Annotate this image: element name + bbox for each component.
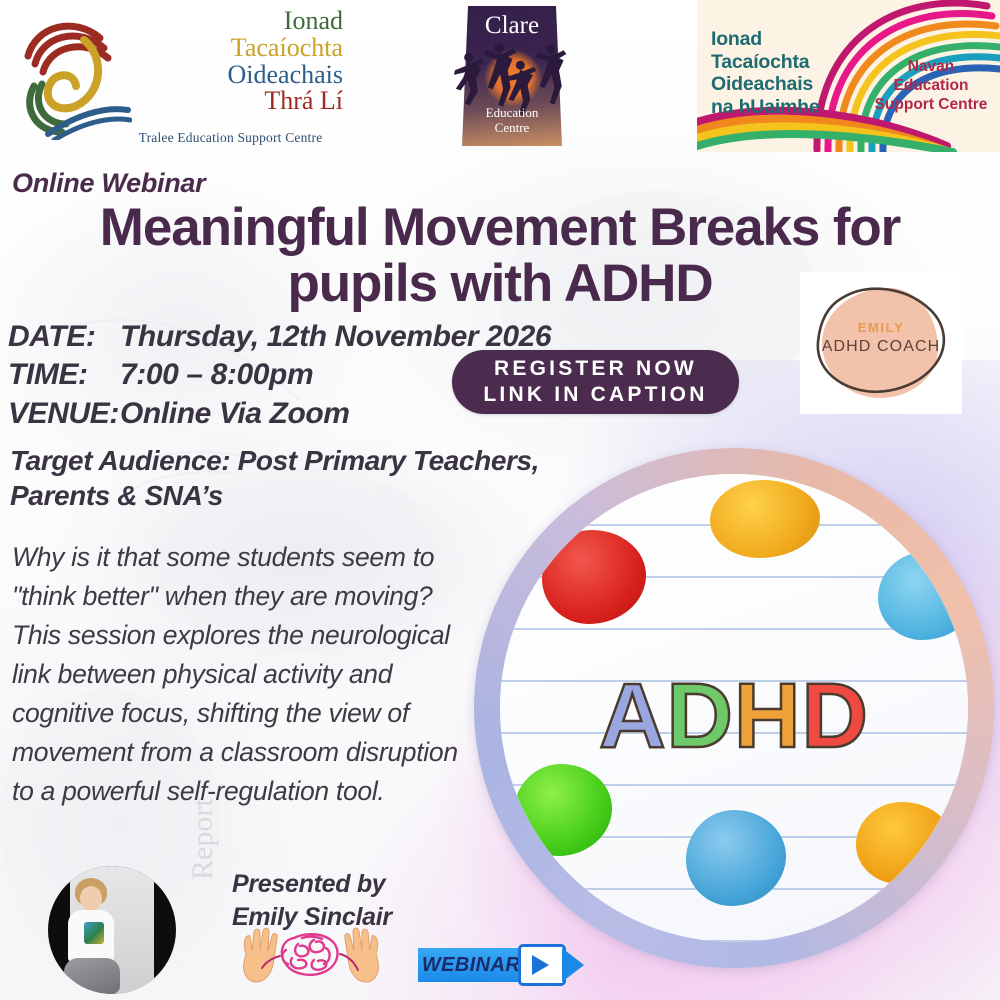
navan-en-line-1: Navan bbox=[865, 58, 997, 77]
date-label: DATE: bbox=[8, 318, 120, 356]
navan-english-name: Navan Education Support Centre bbox=[865, 58, 997, 115]
tralee-line-1: Ionad bbox=[128, 8, 343, 35]
venue-value: Online Via Zoom bbox=[120, 395, 350, 433]
register-line-1: REGISTER NOW bbox=[494, 356, 697, 382]
logo-clare-education-centre: Clare Education Centre bbox=[440, 2, 586, 150]
adhd-letter-a: A bbox=[599, 665, 666, 767]
adhd-letter-d1: D bbox=[667, 665, 734, 767]
adhd-letter-h: H bbox=[734, 665, 801, 767]
navan-en-line-2: Education bbox=[865, 77, 997, 96]
emily-logo-line-1: EMILY bbox=[800, 320, 962, 335]
navan-en-line-3: Support Centre bbox=[865, 96, 997, 115]
webinar-poster: Ionad Tacaíochta Oideachais Thrá Lí Tral… bbox=[0, 0, 1000, 1000]
clare-subtitle: Education Centre bbox=[454, 106, 570, 135]
register-now-button[interactable]: REGISTER NOW LINK IN CAPTION bbox=[452, 350, 739, 414]
tralee-line-3: Oideachais bbox=[128, 62, 343, 89]
presenter-avatar bbox=[48, 866, 176, 994]
logo-tralee-education-support-centre: Ionad Tacaíochta Oideachais Thrá Lí Tral… bbox=[8, 2, 338, 152]
time-value: 7:00 – 8:00pm bbox=[120, 356, 313, 394]
clare-sub-line-1: Education bbox=[454, 106, 570, 121]
video-camera-lens-icon bbox=[562, 948, 584, 982]
adhd-circle-image: ADHD bbox=[474, 448, 994, 968]
tralee-subtitle: Tralee Education Support Centre bbox=[118, 130, 343, 146]
tralee-line-2: Tacaíochta bbox=[128, 35, 343, 62]
paper-ball-cyan bbox=[878, 552, 968, 640]
tralee-line-4: Thrá Lí bbox=[128, 88, 343, 115]
clare-name: Clare bbox=[462, 12, 562, 40]
time-label: TIME: bbox=[8, 356, 120, 394]
tralee-swirl-icon bbox=[12, 12, 132, 140]
adhd-letter-d2: D bbox=[801, 665, 868, 767]
presenter-line-1: Presented by bbox=[232, 868, 392, 901]
adhd-letters: ADHD bbox=[500, 670, 968, 762]
avatar-head bbox=[80, 886, 102, 911]
avatar-bag bbox=[64, 958, 120, 994]
webinar-badge: WEBINAR bbox=[418, 944, 570, 988]
report-watermark-text: Report bbox=[186, 798, 220, 880]
webinar-badge-label: WEBINAR bbox=[418, 948, 524, 982]
clare-sub-line-2: Centre bbox=[454, 121, 570, 136]
emily-logo-line-2: ADHD COACH bbox=[800, 338, 962, 356]
play-triangle-icon bbox=[532, 955, 549, 975]
description-text: Why is it that some students seem to "th… bbox=[12, 538, 472, 811]
kicker-online-webinar: Online Webinar bbox=[12, 168, 205, 199]
partner-logo-strip: Ionad Tacaíochta Oideachais Thrá Lí Tral… bbox=[0, 0, 1000, 152]
logo-navan-education-support-centre: Ionad Tacaíochta Oideachais na hUaimhe N… bbox=[697, 0, 1000, 152]
register-line-2: LINK IN CAPTION bbox=[483, 382, 707, 408]
emily-adhd-coach-logo: EMILY ADHD COACH bbox=[800, 272, 962, 414]
venue-label: VENUE: bbox=[8, 395, 120, 433]
navan-irish-name: Ionad Tacaíochta Oideachais na hUaimhe bbox=[711, 28, 887, 118]
circle-photo-inner: ADHD bbox=[500, 474, 968, 942]
avatar-shirt-print bbox=[84, 922, 104, 944]
tralee-wordmark: Ionad Tacaíochta Oideachais Thrá Lí bbox=[128, 8, 343, 128]
hands-holding-brain-icon bbox=[236, 924, 386, 992]
